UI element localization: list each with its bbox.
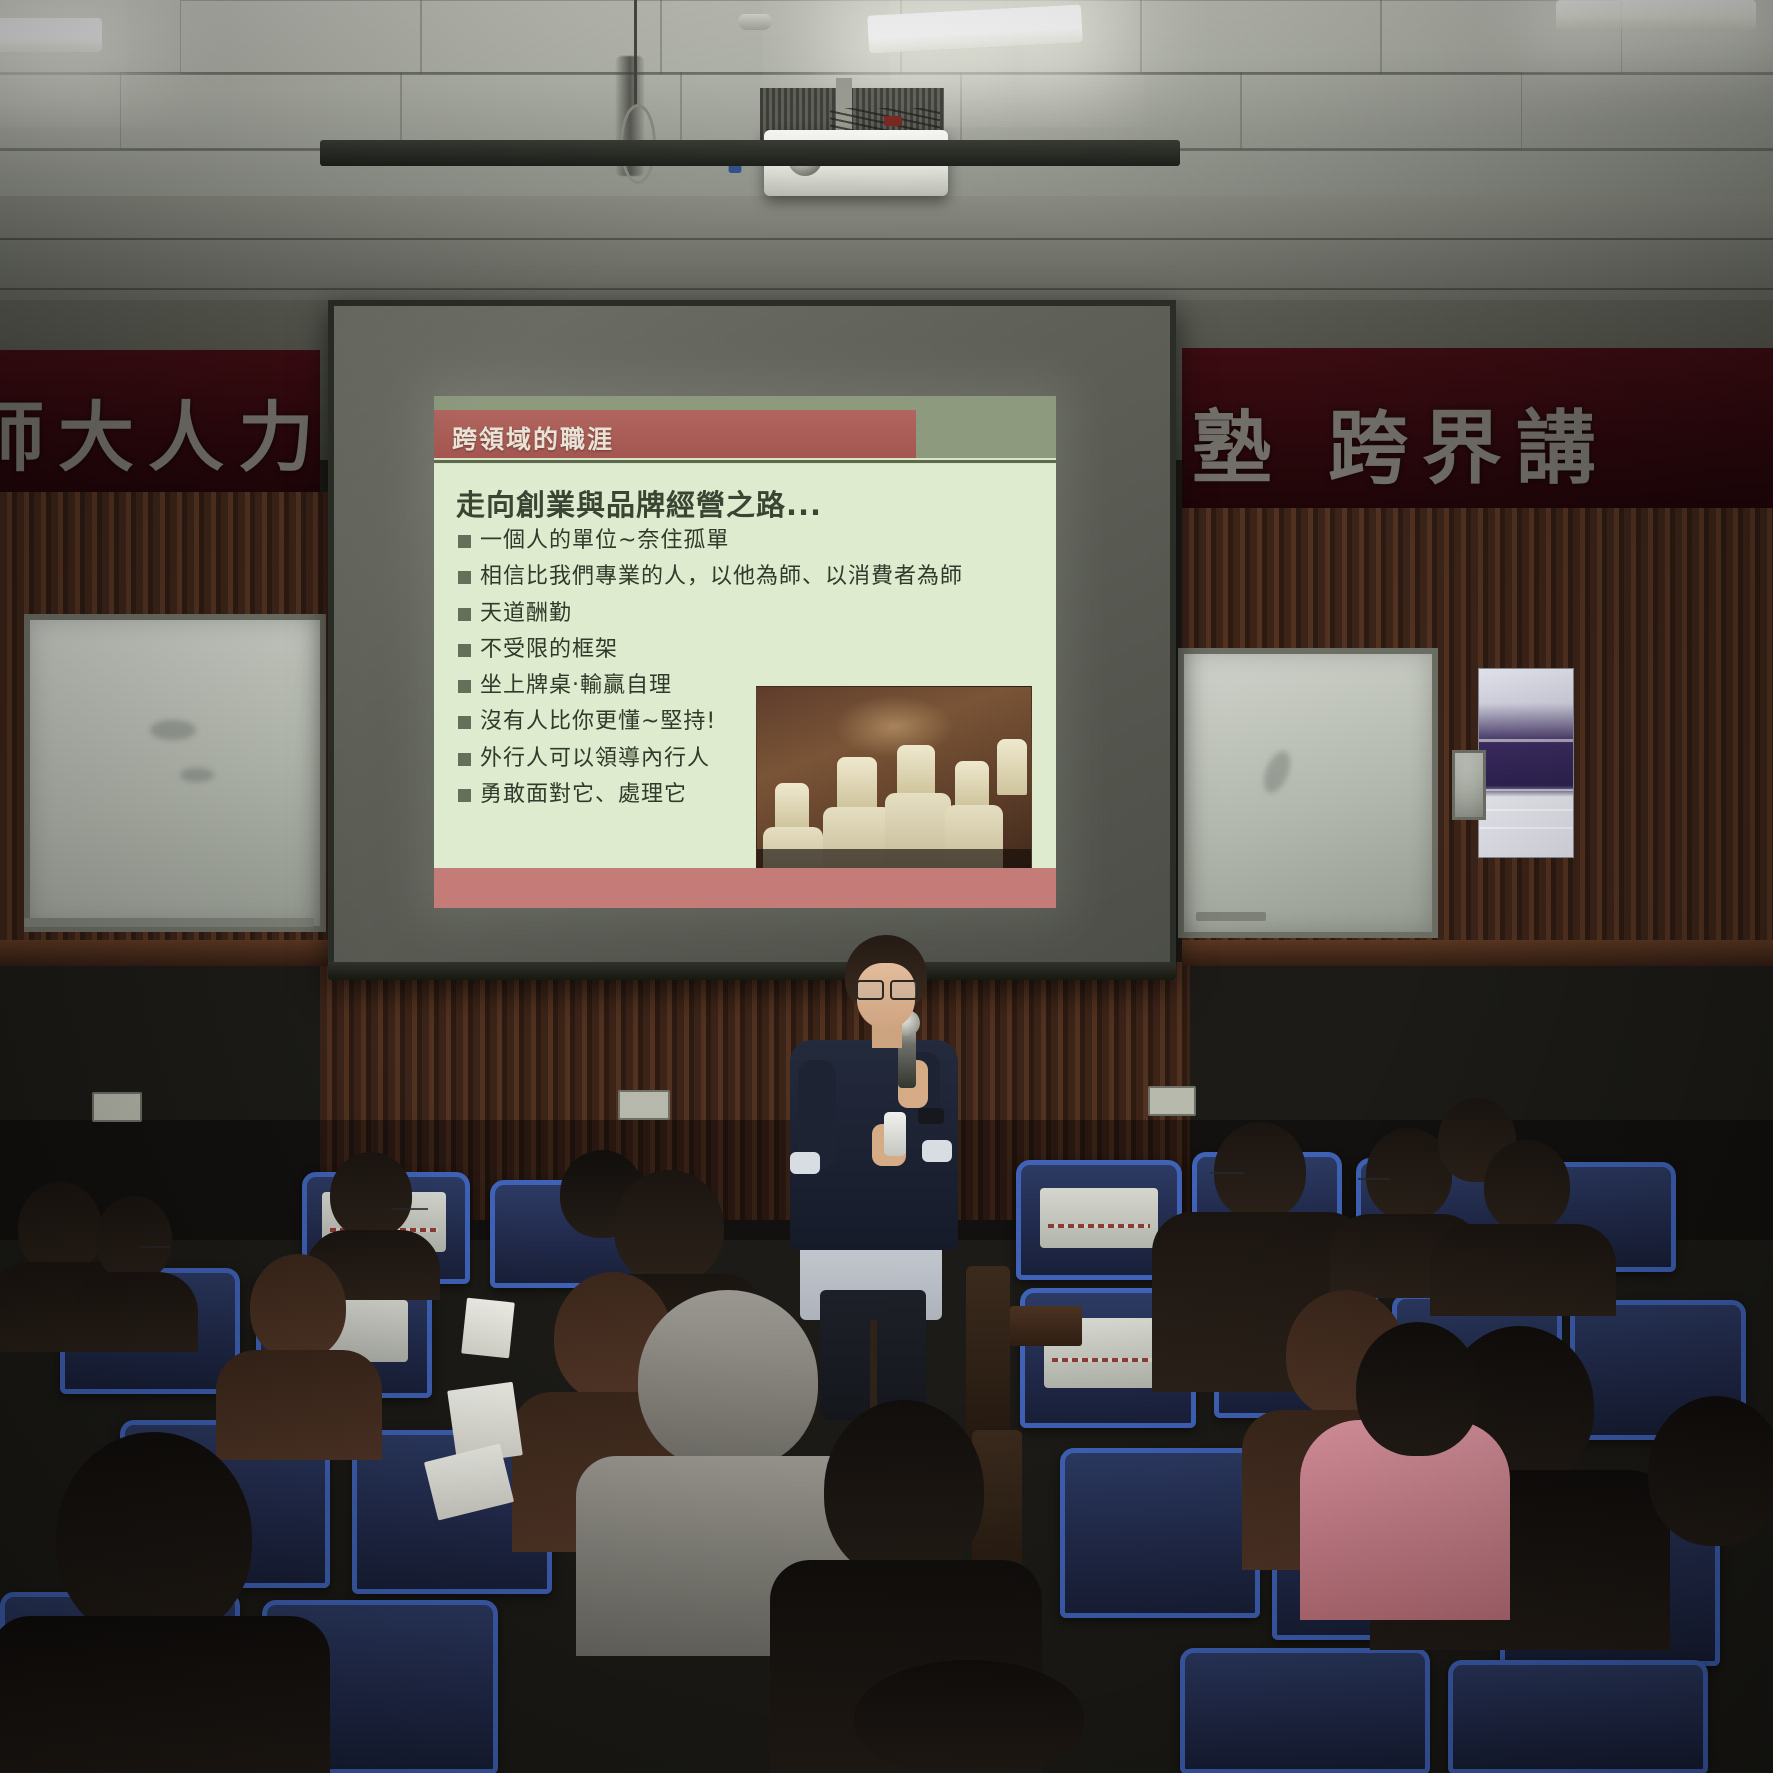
bullet-square-icon	[458, 608, 471, 621]
poster-side-panel	[1452, 750, 1486, 820]
seat[interactable]	[1448, 1660, 1708, 1773]
bullet-square-icon	[458, 716, 471, 729]
audience-head	[96, 1196, 172, 1282]
bullet-square-icon	[458, 753, 471, 766]
seat-panel	[1040, 1188, 1158, 1248]
armrest	[966, 1266, 1010, 1442]
ceiling-light-left	[0, 18, 102, 52]
projection-screen-bottom-bar	[328, 962, 1176, 980]
wristwatch	[918, 1108, 944, 1124]
list-item: 相信比我們專業的人，以他為師、以消費者為師	[458, 564, 1018, 589]
ceiling-beam	[0, 196, 1773, 316]
audience-head	[1484, 1140, 1570, 1232]
glasses-icon	[1210, 1172, 1244, 1181]
whiteboard-right-tray	[1196, 912, 1266, 921]
bullet-square-icon	[458, 535, 471, 548]
slide-body: 走向創業與品牌經營之路... 一個人的單位~奈住孤單 相信比我們專業的人，以他為…	[434, 464, 1056, 868]
projection-screen-case	[320, 140, 1180, 166]
bullet-text: 相信比我們專業的人，以他為師、以消費者為師	[480, 564, 963, 589]
list-item: 不受限的框架	[458, 637, 1018, 662]
audience-head	[1356, 1322, 1480, 1456]
audience-head	[1648, 1396, 1773, 1546]
bullet-text: 坐上牌桌‧輸贏自理	[480, 673, 672, 698]
glasses-icon	[392, 1208, 428, 1217]
seat-tablet-arm	[1010, 1306, 1082, 1346]
seat[interactable]	[1180, 1648, 1430, 1773]
audience-shoulders	[72, 1272, 198, 1352]
bullet-text: 外行人可以領導內行人	[480, 746, 710, 771]
bullet-text: 天道酬勤	[480, 601, 572, 626]
slide-photo-chefs	[756, 686, 1032, 896]
whiteboard-left-tray	[24, 918, 314, 927]
bullet-text: 一個人的單位~奈住孤單	[480, 528, 729, 553]
smoke-detector-icon	[738, 14, 772, 30]
wood-trim-left	[0, 940, 330, 966]
bullet-text: 勇敢面對它、處理它	[480, 782, 687, 807]
whiteboard-right	[1178, 648, 1438, 938]
wall-outlet-plate-right[interactable]	[1148, 1086, 1196, 1116]
wood-trim-right	[1182, 940, 1773, 966]
presentation-clicker[interactable]	[884, 1112, 906, 1156]
bullet-square-icon	[458, 571, 471, 584]
audience-head	[1214, 1122, 1306, 1220]
audience-shoulders	[0, 1616, 330, 1773]
bullet-square-icon	[458, 789, 471, 802]
bullet-square-icon	[458, 680, 471, 693]
audience-head	[250, 1254, 346, 1360]
slide-title-rule	[434, 460, 1056, 463]
audience-head	[638, 1290, 818, 1470]
glasses-icon	[856, 980, 918, 996]
projector-indicator	[884, 116, 902, 126]
audience-shoulders	[1430, 1224, 1616, 1316]
list-item: 一個人的單位~奈住孤單	[458, 528, 1018, 553]
slide-footer-bar	[434, 868, 1056, 908]
slide-heading: 走向創業與品牌經營之路...	[456, 482, 822, 524]
seat[interactable]	[1060, 1448, 1260, 1618]
bullet-text: 不受限的框架	[480, 637, 618, 662]
audience-head	[824, 1400, 984, 1580]
glasses-icon	[1358, 1178, 1390, 1187]
audience-head	[330, 1152, 412, 1238]
bullet-text: 沒有人比你更懂~堅持!	[480, 709, 716, 734]
banner-right: 塾 跨界講	[1182, 348, 1773, 508]
audience-head	[854, 1660, 1084, 1773]
glasses-icon	[140, 1246, 170, 1255]
wall-poster	[1478, 668, 1574, 858]
slide-title: 跨領域的職涯	[452, 420, 614, 456]
bullet-square-icon	[458, 644, 471, 657]
list-item: 天道酬勤	[458, 601, 1018, 626]
wall-power-outlet[interactable]	[618, 1090, 670, 1120]
presenter-cuff-left	[790, 1152, 820, 1174]
projected-slide: 跨領域的職涯 走向創業與品牌經營之路... 一個人的單位~奈住孤單 相信比我們專…	[434, 396, 1056, 908]
audience-shoulders	[216, 1350, 382, 1460]
audience-head	[614, 1170, 724, 1284]
presenter-cuff-right	[922, 1140, 952, 1162]
handout-paper[interactable]	[461, 1298, 515, 1359]
wall-outlet-plate[interactable]	[92, 1092, 142, 1122]
ceiling-light-right	[1556, 0, 1756, 30]
whiteboard-left	[24, 614, 326, 932]
audience-head	[56, 1432, 252, 1642]
lecture-hall-photo: 師大人力 塾 跨界講 跨領域的職涯 走向創業與品牌經營之	[0, 0, 1773, 1773]
banner-left: 師大人力	[0, 350, 320, 492]
audience-head	[18, 1182, 102, 1274]
